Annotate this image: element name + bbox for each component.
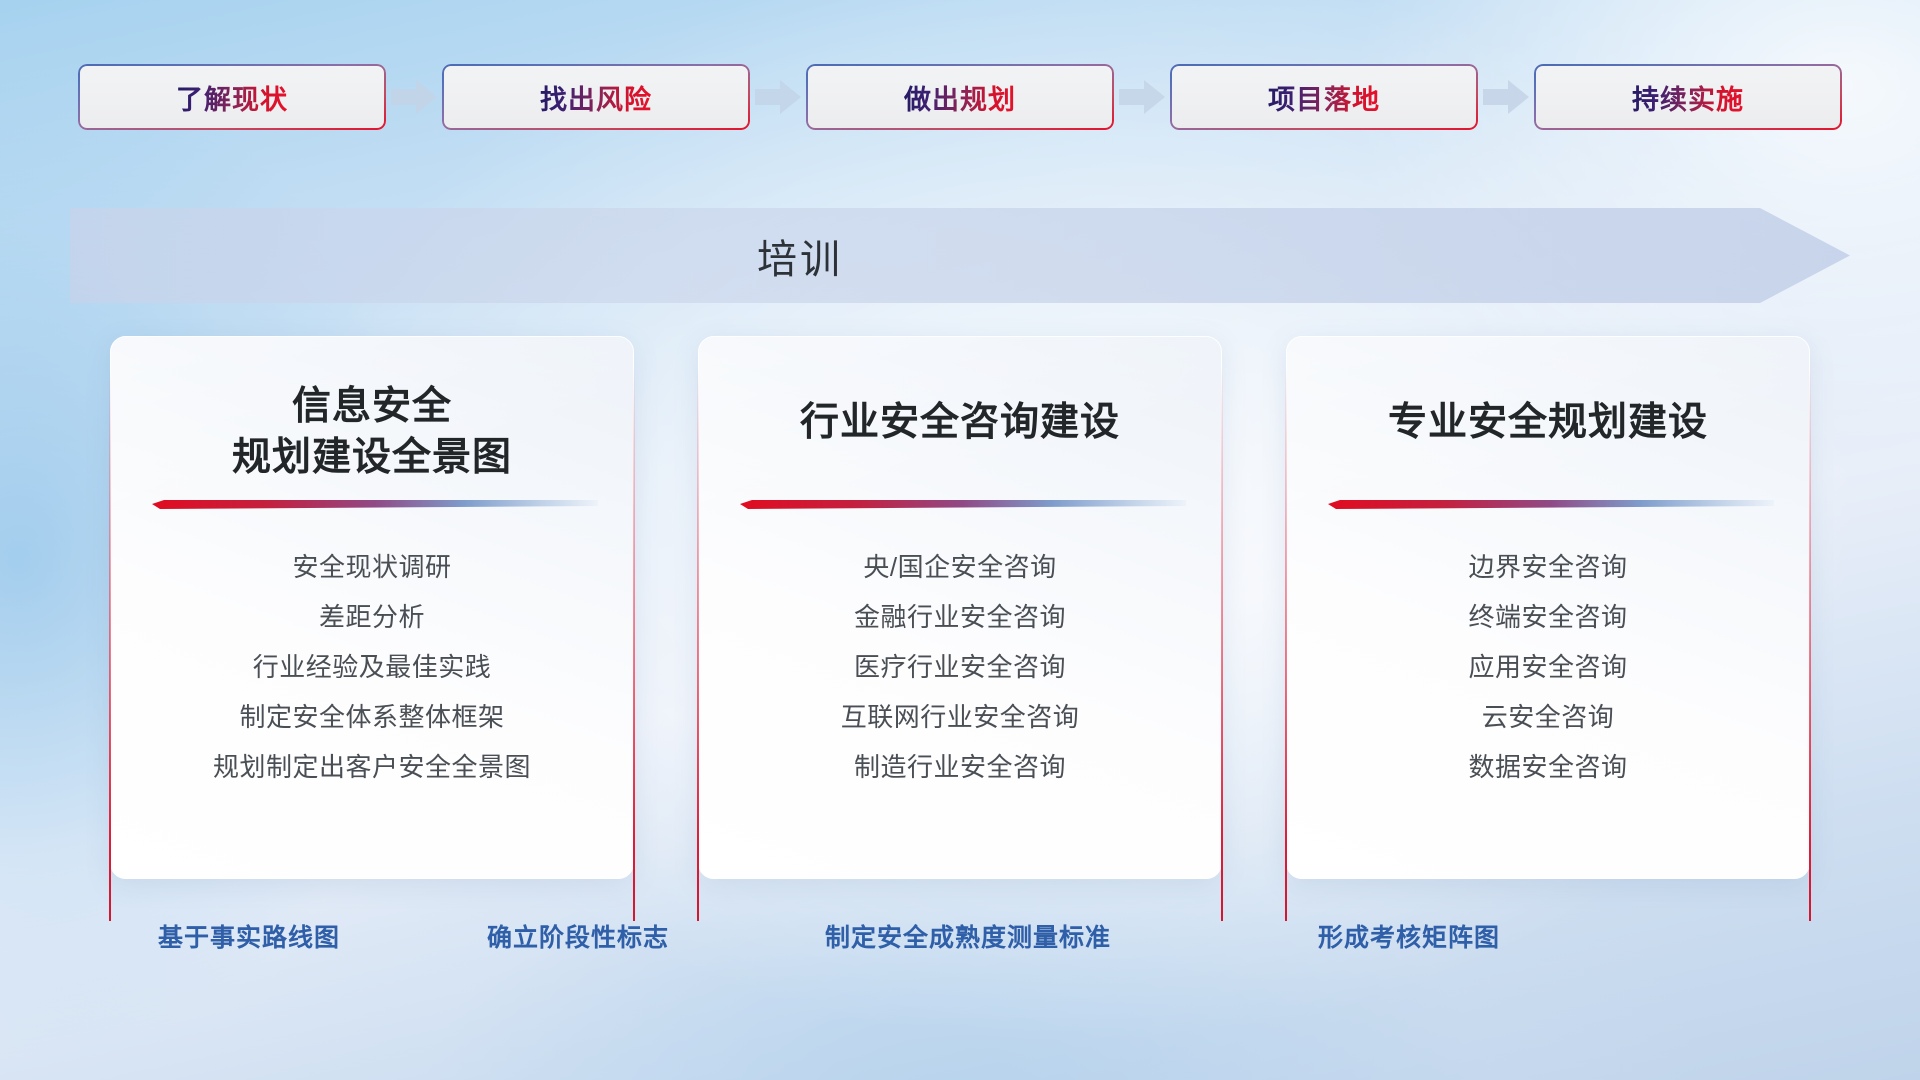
- card-divider-icon: [152, 500, 598, 509]
- footer-label-3: 制定安全成熟度测量标准: [825, 918, 1111, 954]
- cards-row: 信息安全 规划建设全景图: [0, 336, 1920, 879]
- pipeline-steps: 了解现状 找出风险 做出规划 项目落地: [0, 62, 1920, 132]
- pipeline-step-2[interactable]: 找出风险: [442, 64, 750, 130]
- card-list: 央/国企安全咨询 金融行业安全咨询 医疗行业安全咨询 互联网行业安全咨询 制造行…: [698, 542, 1222, 792]
- pipeline-step-1[interactable]: 了解现状: [78, 64, 386, 130]
- chevron-right-arrow-icon-2: [750, 62, 806, 132]
- pipeline-step-label: 项目落地: [1268, 78, 1380, 117]
- pipeline-step-label: 做出规划: [904, 78, 1016, 117]
- card-divider-icon: [1328, 500, 1774, 509]
- pipeline-step-5[interactable]: 持续实施: [1534, 64, 1842, 130]
- pipeline-step-4[interactable]: 项目落地: [1170, 64, 1478, 130]
- card-title: 信息安全 规划建设全景图: [110, 382, 634, 483]
- list-item: 边界安全咨询: [1286, 542, 1810, 592]
- slide-canvas: 了解现状 找出风险 做出规划 项目落地: [0, 0, 1920, 1080]
- footer-labels: 基于事实路线图 确立阶段性标志 制定安全成熟度测量标准 形成考核矩阵图: [0, 918, 1920, 960]
- card-professional-security-planning[interactable]: 专业安全规划建设: [1286, 336, 1810, 879]
- list-item: 央/国企安全咨询: [698, 542, 1222, 592]
- list-item: 差距分析: [110, 592, 634, 642]
- card-information-security-blueprint[interactable]: 信息安全 规划建设全景图: [110, 336, 634, 879]
- list-item: 应用安全咨询: [1286, 642, 1810, 692]
- list-item: 数据安全咨询: [1286, 742, 1810, 792]
- list-item: 终端安全咨询: [1286, 592, 1810, 642]
- footer-label-2: 确立阶段性标志: [487, 918, 669, 954]
- card-industry-security-consulting[interactable]: 行业安全咨询建设: [698, 336, 1222, 879]
- list-item: 规划制定出客户安全全景图: [110, 742, 634, 792]
- list-item: 行业经验及最佳实践: [110, 642, 634, 692]
- list-item: 医疗行业安全咨询: [698, 642, 1222, 692]
- list-item: 制定安全体系整体框架: [110, 692, 634, 742]
- card-title: 行业安全咨询建设: [698, 398, 1222, 449]
- footer-label-4: 形成考核矩阵图: [1318, 918, 1500, 954]
- pipeline-step-3[interactable]: 做出规划: [806, 64, 1114, 130]
- card-list: 安全现状调研 差距分析 行业经验及最佳实践 制定安全体系整体框架 规划制定出客户…: [110, 542, 634, 792]
- list-item: 互联网行业安全咨询: [698, 692, 1222, 742]
- card-list: 边界安全咨询 终端安全咨询 应用安全咨询 云安全咨询 数据安全咨询: [1286, 542, 1810, 792]
- chevron-right-arrow-icon-1: [386, 62, 442, 132]
- list-item: 云安全咨询: [1286, 692, 1810, 742]
- list-item: 安全现状调研: [110, 542, 634, 592]
- list-item: 金融行业安全咨询: [698, 592, 1222, 642]
- pipeline-step-label: 了解现状: [176, 78, 288, 117]
- chevron-right-arrow-icon-3: [1114, 62, 1170, 132]
- card-divider-icon: [740, 500, 1186, 509]
- card-title: 专业安全规划建设: [1286, 398, 1810, 449]
- pipeline-step-label: 找出风险: [540, 78, 652, 117]
- list-item: 制造行业安全咨询: [698, 742, 1222, 792]
- footer-label-1: 基于事实路线图: [158, 918, 340, 954]
- chevron-right-arrow-icon-4: [1478, 62, 1534, 132]
- training-band-label: 培训: [0, 208, 1600, 303]
- pipeline-step-label: 持续实施: [1632, 78, 1744, 117]
